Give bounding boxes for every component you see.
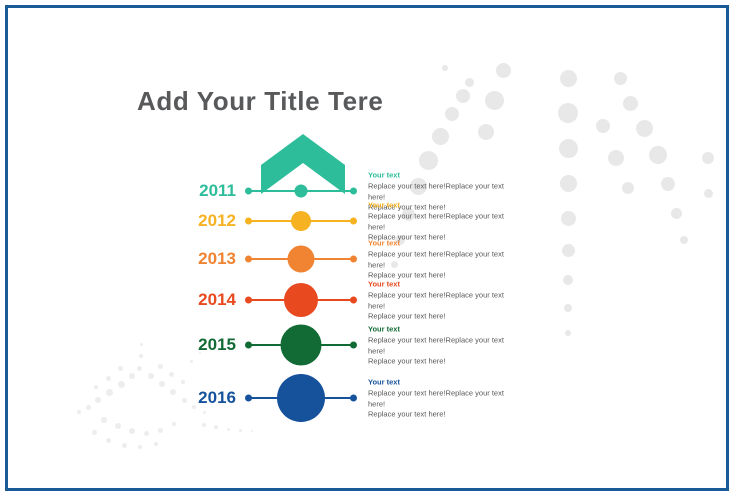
timeline-endpoint-dot-right [350,188,357,195]
timeline-text-heading: Your text [368,237,520,248]
timeline-year-label: 2012 [158,211,236,231]
timeline-node-circle[interactable] [295,185,308,198]
timeline-rows: 2011Your textReplace your text here!Repl… [8,8,726,488]
timeline-endpoint-dot-right [350,218,357,225]
timeline-node-circle[interactable] [284,283,318,317]
timeline-year-label: 2016 [158,388,236,408]
slide-frame: Add Your Title Tere 2011Your textReplace… [5,5,729,491]
timeline-endpoint-dot-right [350,395,357,402]
timeline-node-circle[interactable] [288,246,315,273]
timeline-node-circle[interactable] [277,374,325,422]
timeline-text-block: Your textReplace your text here!Replace … [368,323,520,367]
timeline-text-heading: Your text [368,278,520,289]
timeline-text-body-line-2: Replace your text here! [368,409,520,420]
timeline-year-label: 2015 [158,335,236,355]
timeline-text-heading: Your text [368,199,520,210]
timeline-text-body-line-1: Replace your text here!Replace your text… [368,249,520,270]
timeline-year-label: 2013 [158,249,236,269]
timeline-text-block: Your textReplace your text here!Replace … [368,237,520,281]
timeline-endpoint-dot-right [350,256,357,263]
timeline-endpoint-dot-right [350,342,357,349]
timeline-text-block: Your textReplace your text here!Replace … [368,376,520,420]
timeline-endpoint-dot-left [245,188,252,195]
timeline-endpoint-dot-left [245,256,252,263]
timeline-endpoint-dot-left [245,342,252,349]
timeline-endpoint-dot-left [245,395,252,402]
timeline-year-label: 2011 [158,181,236,201]
timeline-year-label: 2014 [158,290,236,310]
timeline-text-body-line-1: Replace your text here!Replace your text… [368,290,520,311]
timeline-text-body-line-2: Replace your text here! [368,311,520,322]
timeline-text-heading: Your text [368,323,520,334]
slide-canvas: Add Your Title Tere 2011Your textReplace… [8,8,726,488]
timeline-node-circle[interactable] [281,325,322,366]
timeline-text-heading: Your text [368,376,520,387]
timeline-text-block: Your textReplace your text here!Replace … [368,278,520,322]
timeline-endpoint-dot-right [350,297,357,304]
timeline-node-circle[interactable] [291,211,311,231]
timeline-text-body-line-1: Replace your text here!Replace your text… [368,388,520,409]
timeline-text-block: Your textReplace your text here!Replace … [368,199,520,243]
timeline-text-body-line-1: Replace your text here!Replace your text… [368,211,520,232]
timeline-endpoint-dot-left [245,297,252,304]
timeline-text-body-line-2: Replace your text here! [368,356,520,367]
timeline-text-body-line-1: Replace your text here!Replace your text… [368,335,520,356]
timeline-endpoint-dot-left [245,218,252,225]
timeline-text-heading: Your text [368,169,520,180]
